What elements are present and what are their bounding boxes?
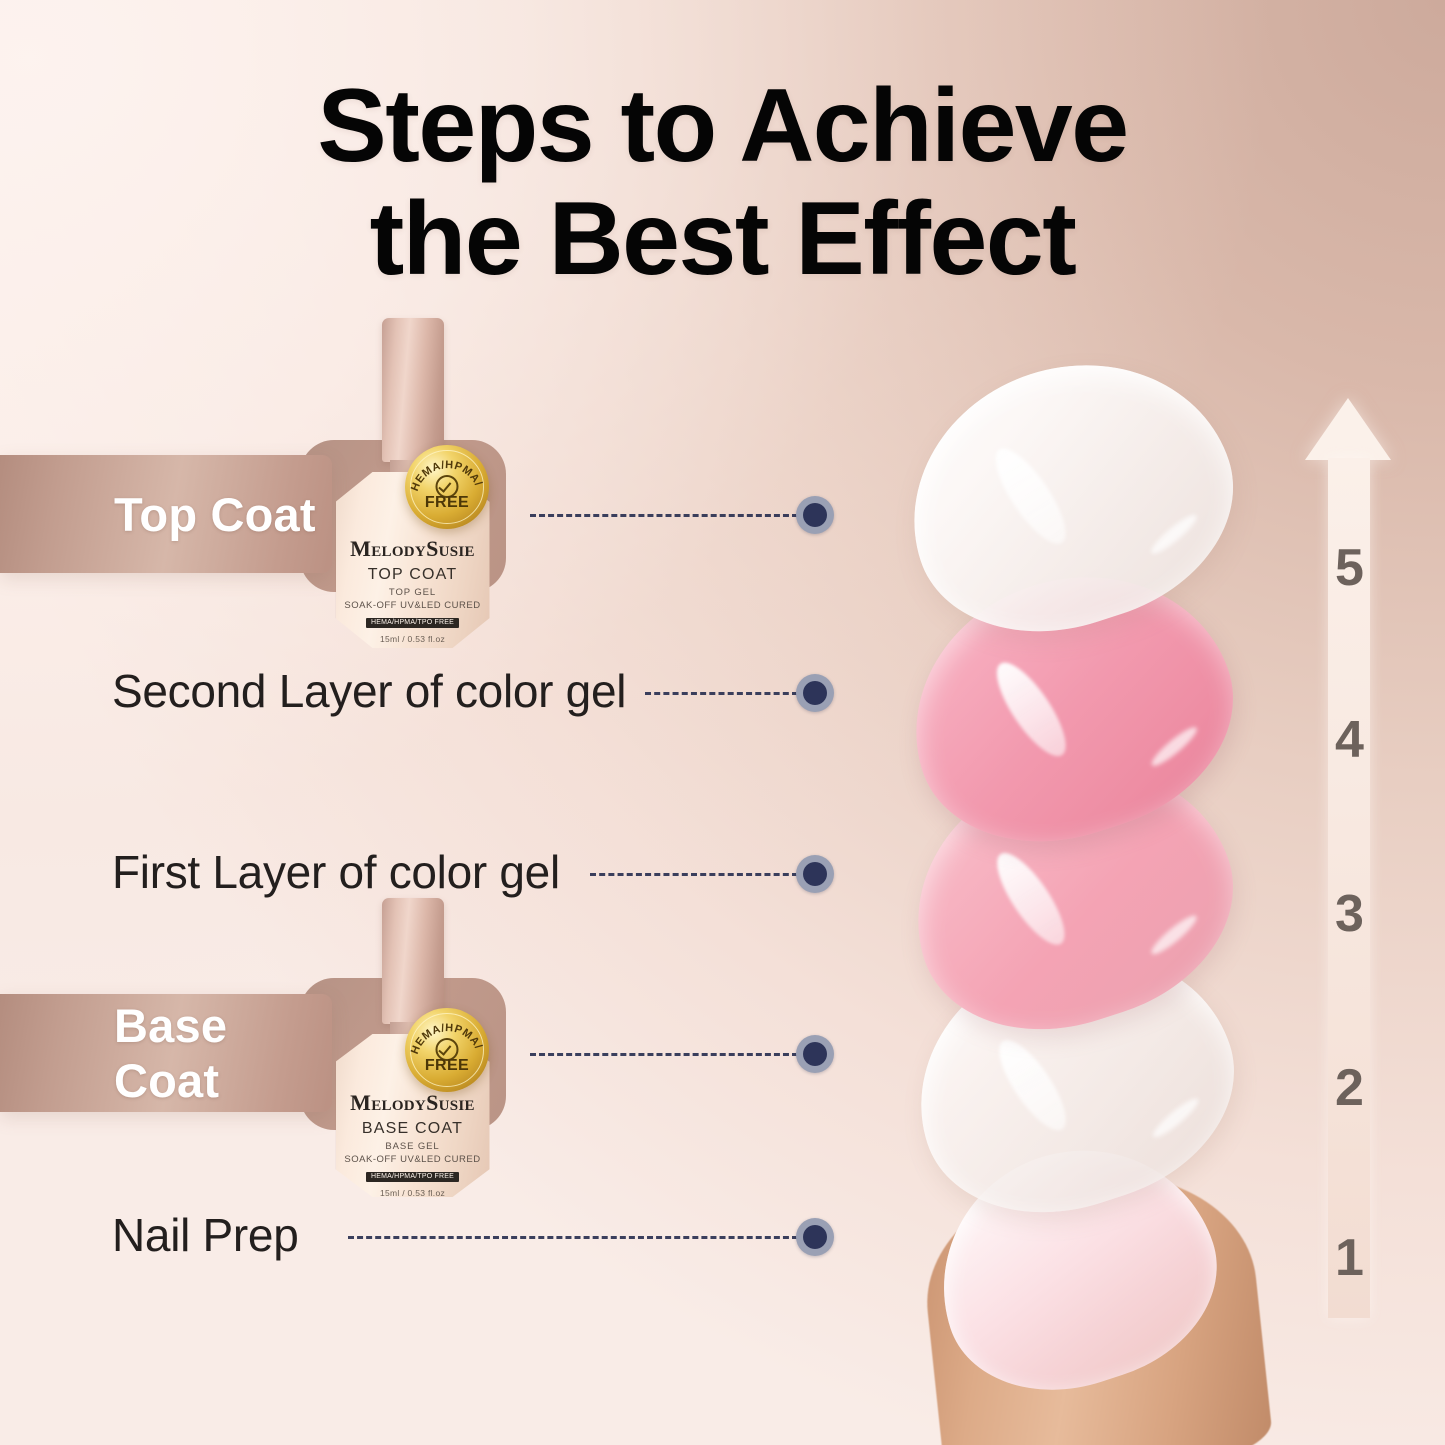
nail-layer-top-coat [876, 324, 1263, 668]
step-banner-top-coat[interactable]: Top Coat [0, 455, 332, 573]
nail-shine-first-color [986, 844, 1076, 954]
leader-dot-second-layer[interactable] [796, 674, 834, 712]
leader-line-base-coat [530, 1053, 798, 1056]
badge-inner-top: HEMA/HPMA/TPO FREE [405, 445, 489, 529]
leader-dot-nail-prep[interactable] [796, 1218, 834, 1256]
nail-shine-top-coat [984, 439, 1077, 553]
bottle-product-top-coat: TOP COAT [336, 566, 490, 584]
page-title: Steps to Achieve the Best Effect [0, 70, 1445, 297]
scale-number-2: 2 [1321, 1058, 1377, 1118]
infographic-canvas: Steps to Achieve the Best Effect Top Coa… [0, 0, 1445, 1445]
nail-shine-second-color [985, 653, 1077, 765]
bottle-base-coat: MelodySusie BASE COAT BASE GEL SOAK-OFF … [325, 898, 500, 1198]
bottle-subtitle-top-coat: TOP GEL [336, 587, 490, 598]
hema-free-badge-base-coat: HEMA/HPMA/TPO FREE [405, 1008, 489, 1092]
arrow-head-icon [1305, 398, 1391, 460]
badge-inner-base: HEMA/HPMA/TPO FREE [405, 1008, 489, 1092]
leader-dot-top-coat[interactable] [796, 496, 834, 534]
bottle-brand-top-coat: MelodySusie [336, 536, 490, 562]
bottle-volume-top-coat: 15ml / 0.53 fl.oz [336, 634, 490, 644]
leader-line-nail-prep [348, 1236, 798, 1239]
nail-edge-highlight-first-color [1148, 911, 1201, 958]
scale-number-5: 5 [1321, 538, 1377, 598]
step-label-nail-prep: Nail Prep [112, 1208, 299, 1262]
bottle-cure-top-coat: SOAK-OFF UV&LED CURED [336, 600, 490, 611]
leader-line-first-layer [590, 873, 798, 876]
bottle-product-base-coat: BASE COAT [336, 1120, 490, 1138]
bottle-top-coat: MelodySusie TOP COAT TOP GEL SOAK-OFF UV… [325, 318, 500, 648]
leader-line-second-layer [645, 692, 798, 695]
step-label-second-layer: Second Layer of color gel [112, 664, 626, 718]
bottle-cap-top-coat [382, 318, 444, 462]
step-label-base-coat: Base Coat [0, 998, 332, 1108]
title-line-1: Steps to Achieve [0, 70, 1445, 183]
badge-free-label-top: FREE [405, 494, 489, 512]
hema-free-badge-top-coat: HEMA/HPMA/TPO FREE [405, 445, 489, 529]
leader-line-top-coat [530, 514, 798, 517]
bottle-cure-base-coat: SOAK-OFF UV&LED CURED [336, 1154, 490, 1165]
bottle-brand-base-coat: MelodySusie [336, 1090, 490, 1116]
nail-edge-highlight-second-color [1148, 723, 1201, 770]
nail-edge-highlight-top-coat [1148, 511, 1201, 558]
bottle-cap-base-coat [382, 898, 444, 1024]
leader-dot-first-layer[interactable] [796, 855, 834, 893]
bottle-subtitle-base-coat: BASE GEL [336, 1141, 490, 1152]
scale-number-4: 4 [1321, 710, 1377, 770]
scale-number-1: 1 [1321, 1228, 1377, 1288]
bottle-free-bar-base-coat: HEMA/HPMA/TPO FREE [366, 1172, 459, 1182]
title-line-2: the Best Effect [0, 183, 1445, 296]
step-label-first-layer: First Layer of color gel [112, 845, 560, 899]
badge-free-label-base: FREE [405, 1057, 489, 1075]
bottle-label-top-coat: MelodySusie TOP COAT TOP GEL SOAK-OFF UV… [336, 536, 490, 644]
step-banner-base-coat[interactable]: Base Coat [0, 994, 332, 1112]
nail-edge-highlight-base-coat [1149, 1094, 1202, 1141]
leader-dot-base-coat[interactable] [796, 1035, 834, 1073]
scale-number-3: 3 [1321, 884, 1377, 944]
step-label-top-coat: Top Coat [0, 487, 316, 542]
bottle-volume-base-coat: 15ml / 0.53 fl.oz [336, 1188, 490, 1198]
nail-shine-base-coat [988, 1031, 1077, 1139]
bottle-label-base-coat: MelodySusie BASE COAT BASE GEL SOAK-OFF … [336, 1090, 490, 1198]
bottle-free-bar-top-coat: HEMA/HPMA/TPO FREE [366, 618, 459, 628]
